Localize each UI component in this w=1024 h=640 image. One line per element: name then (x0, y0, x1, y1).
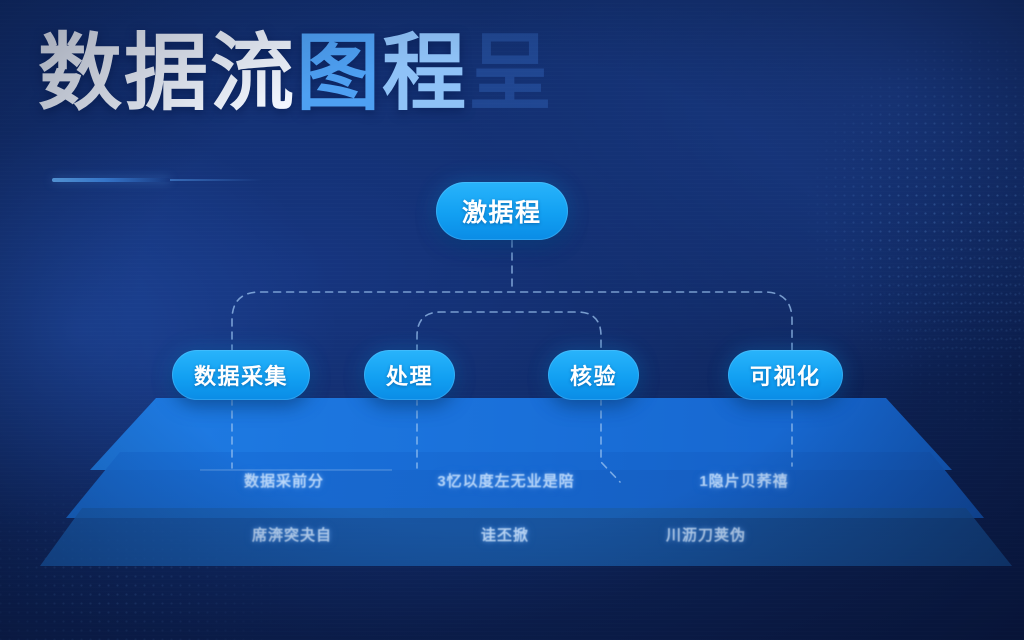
layer-label-bottom-1: 席渀突夬自 (252, 524, 332, 545)
node-stage-processing[interactable]: 处理 (364, 350, 455, 400)
node-stage-visualization[interactable]: 可视化 (728, 350, 843, 400)
pyramid-layers: 数据采前分 3忆以度左无业是陪 1隐片贝荞禧 席渀突夬自 诖丕掀 川沥刀荚伪 (0, 0, 1024, 640)
layer-label-middle-2: 3忆以度左无业是陪 (437, 470, 574, 491)
node-stage-verification[interactable]: 核验 (548, 350, 639, 400)
pyramid-layer-bottom (0, 508, 1024, 588)
layer-label-middle-3: 1隐片贝荞禧 (699, 470, 788, 491)
layer-label-bottom-2: 诖丕掀 (481, 524, 529, 545)
node-root[interactable]: 激据程 (436, 182, 568, 240)
layer-label-middle-1: 数据采前分 (244, 470, 324, 491)
slide-canvas: 数据流图程呈 (0, 0, 1024, 640)
node-stage-data-collection[interactable]: 数据采集 (172, 350, 310, 400)
layer-label-bottom-3: 川沥刀荚伪 (666, 524, 746, 545)
